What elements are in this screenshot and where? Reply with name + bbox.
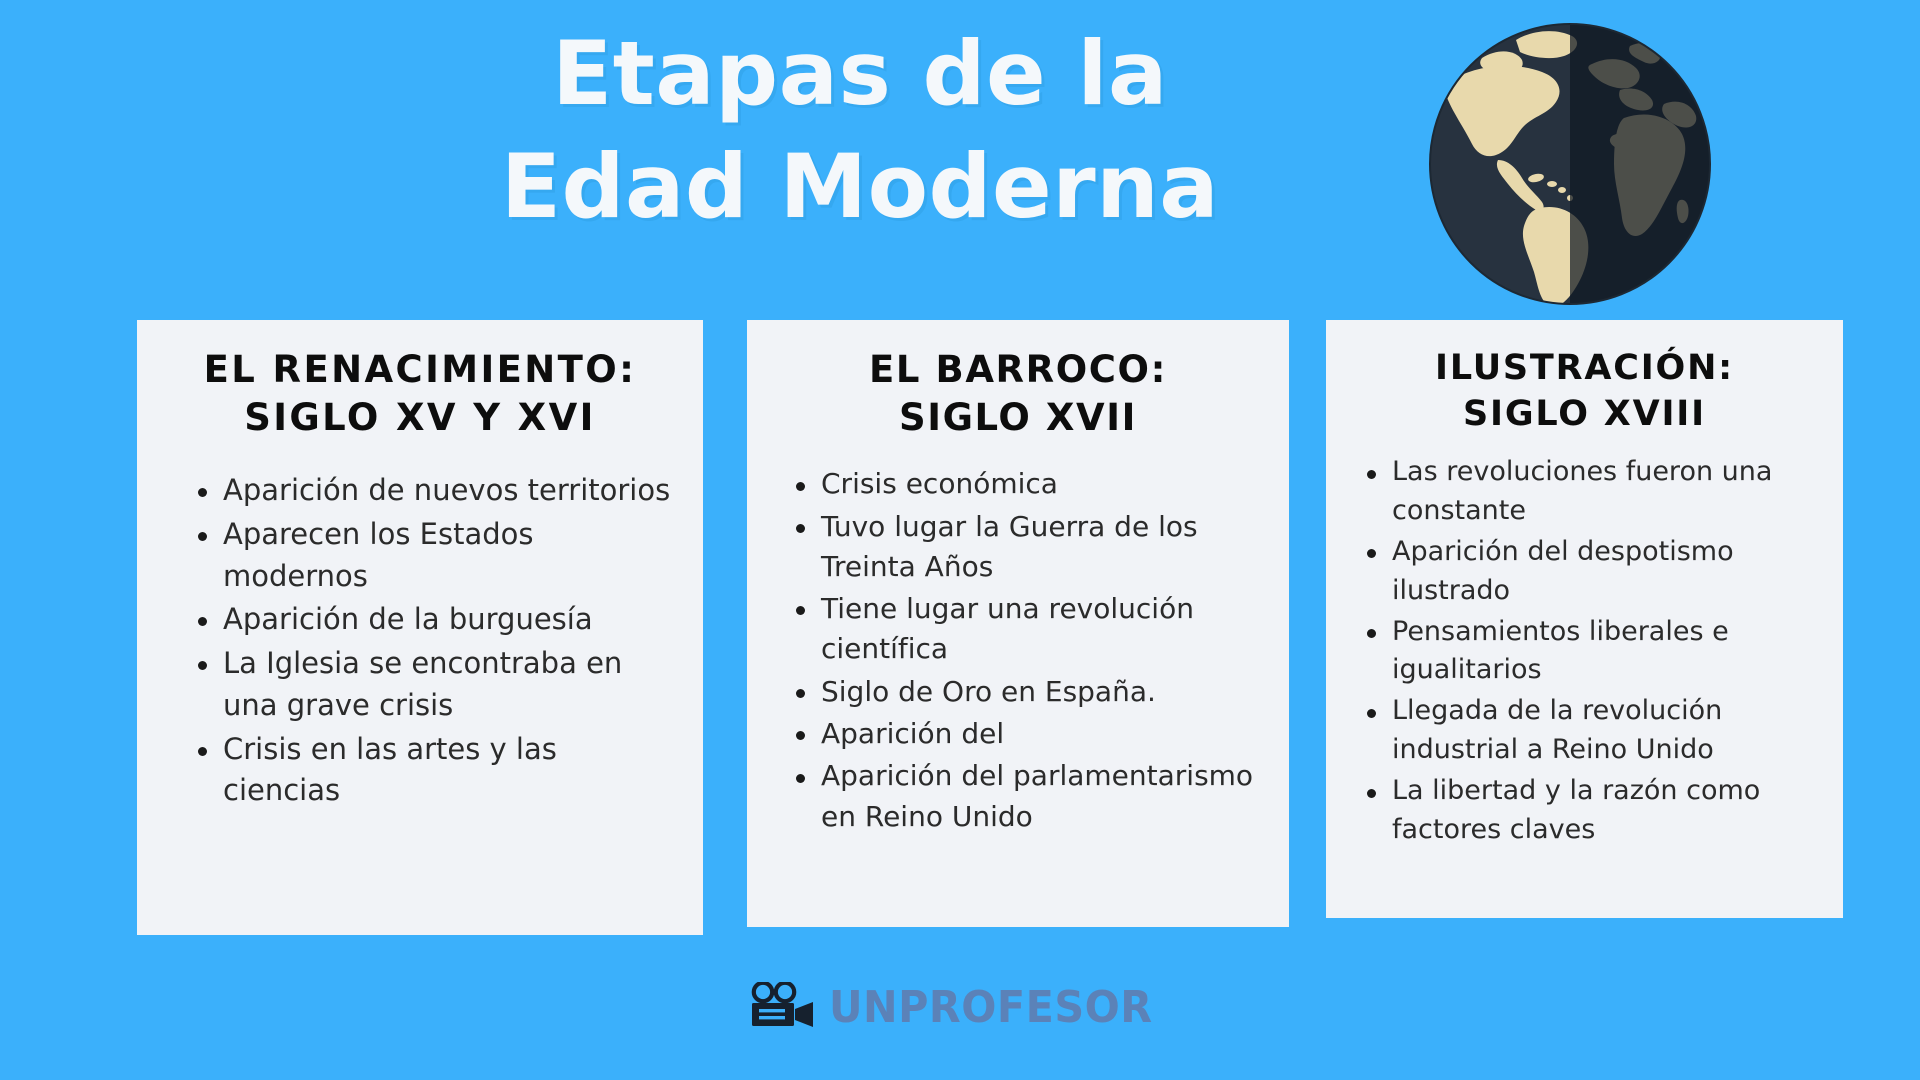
stages-card-row: EL RENACIMIENTO: SIGLO XV Y XVI Aparició… xyxy=(137,320,1843,935)
stage-card-title-line-1: EL RENACIMIENTO: xyxy=(163,346,677,394)
list-item: Llegada de la revolución industrial a Re… xyxy=(1358,692,1817,770)
stage-card-bullet-list: Las revoluciones fueron una constante Ap… xyxy=(1352,453,1817,850)
stage-card-renacimiento: EL RENACIMIENTO: SIGLO XV Y XVI Aparició… xyxy=(137,320,703,935)
list-item: Aparición de la burguesía xyxy=(189,599,677,641)
list-item: Aparecen los Estados modernos xyxy=(189,514,677,598)
list-item: La libertad y la razón como factores cla… xyxy=(1358,772,1817,850)
list-item: Aparición del xyxy=(787,714,1263,754)
brand-name: UNPROFESOR xyxy=(829,986,1153,1030)
infographic-canvas: Etapas de la Edad Moderna xyxy=(0,0,1920,1080)
list-item: Siglo de Oro en España. xyxy=(787,672,1263,712)
video-camera-icon xyxy=(747,982,817,1033)
list-item: Crisis económica xyxy=(787,464,1263,504)
list-item: Pensamientos liberales e igualitarios xyxy=(1358,613,1817,691)
page-title: Etapas de la Edad Moderna xyxy=(330,18,1390,243)
list-item: Aparición del despotismo ilustrado xyxy=(1358,533,1817,611)
list-item: Aparición de nuevos territorios xyxy=(189,470,677,512)
list-item: Aparición del parlamentarismo en Reino U… xyxy=(787,756,1263,837)
page-title-line-2: Edad Moderna xyxy=(330,131,1390,244)
list-item: Tuvo lugar la Guerra de los Treinta Años xyxy=(787,507,1263,588)
stage-card-title-line-1: EL BARROCO: xyxy=(773,346,1263,394)
list-item: Las revoluciones fueron una constante xyxy=(1358,453,1817,531)
globe-earth-icon xyxy=(1424,18,1716,310)
stage-card-title: EL RENACIMIENTO: SIGLO XV Y XVI xyxy=(163,346,677,442)
list-item: Tiene lugar una revolución científica xyxy=(787,589,1263,670)
stage-card-ilustracion: ILUSTRACIÓN: SIGLO XVIII Las revolucione… xyxy=(1326,320,1843,918)
list-item: Crisis en las artes y las ciencias xyxy=(189,729,677,813)
stage-card-title: EL BARROCO: SIGLO XVII xyxy=(773,346,1263,442)
stage-card-title-line-1: ILUSTRACIÓN: xyxy=(1352,346,1817,392)
stage-card-bullet-list: Aparición de nuevos territorios Aparecen… xyxy=(163,470,677,812)
stage-card-title-line-2: SIGLO XVIII xyxy=(1352,392,1817,438)
page-title-line-1: Etapas de la xyxy=(330,18,1390,131)
list-item: La Iglesia se encontraba en una grave cr… xyxy=(189,643,677,727)
stage-card-title-line-2: SIGLO XVII xyxy=(773,394,1263,442)
stage-card-title: ILUSTRACIÓN: SIGLO XVIII xyxy=(1352,346,1817,437)
stage-card-bullet-list: Crisis económica Tuvo lugar la Guerra de… xyxy=(773,464,1263,837)
stage-card-title-line-2: SIGLO XV Y XVI xyxy=(163,394,677,442)
stage-card-barroco: EL BARROCO: SIGLO XVII Crisis económica … xyxy=(747,320,1289,927)
brand-footer: UNPROFESOR xyxy=(0,982,1920,1033)
